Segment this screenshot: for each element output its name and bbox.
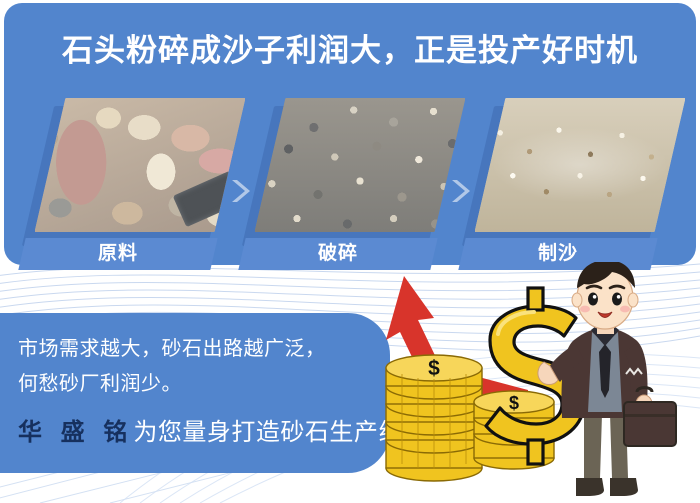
gold-coin-stack-left: $ <box>386 355 482 481</box>
crushed-gravel-photo <box>255 98 466 232</box>
brand-name: 华 盛 铭 <box>18 419 133 446</box>
process-step-1-label: 原料 <box>22 238 214 270</box>
brand-tagline: 华 盛 铭为您量身打造砂石生产线 <box>18 412 403 447</box>
coin-dollar-glyph: $ <box>509 393 519 413</box>
sand-photo <box>475 98 686 232</box>
tagline-text: 为您量身打造砂石生产线 <box>133 419 403 446</box>
process-flow: 原料 破碎 制沙 <box>0 0 700 275</box>
chevron-right-icon <box>448 178 474 204</box>
step-label-bar-1: 原料 <box>18 238 217 270</box>
poster-canvas: 石头粉碎成沙子利润大，正是投产好时机 原料 破碎 <box>0 0 700 503</box>
chevron-right-icon <box>228 178 254 204</box>
coin-dollar-glyph: $ <box>428 357 440 380</box>
raw-material-photo <box>35 98 246 232</box>
smiling-businessman-with-briefcase <box>538 262 676 496</box>
message-line-1: 市场需求越大，砂石出路越广泛， <box>18 332 326 361</box>
message-line-2: 何愁砂厂利润少。 <box>18 367 182 396</box>
illustration-group: $ $ <box>378 262 700 503</box>
